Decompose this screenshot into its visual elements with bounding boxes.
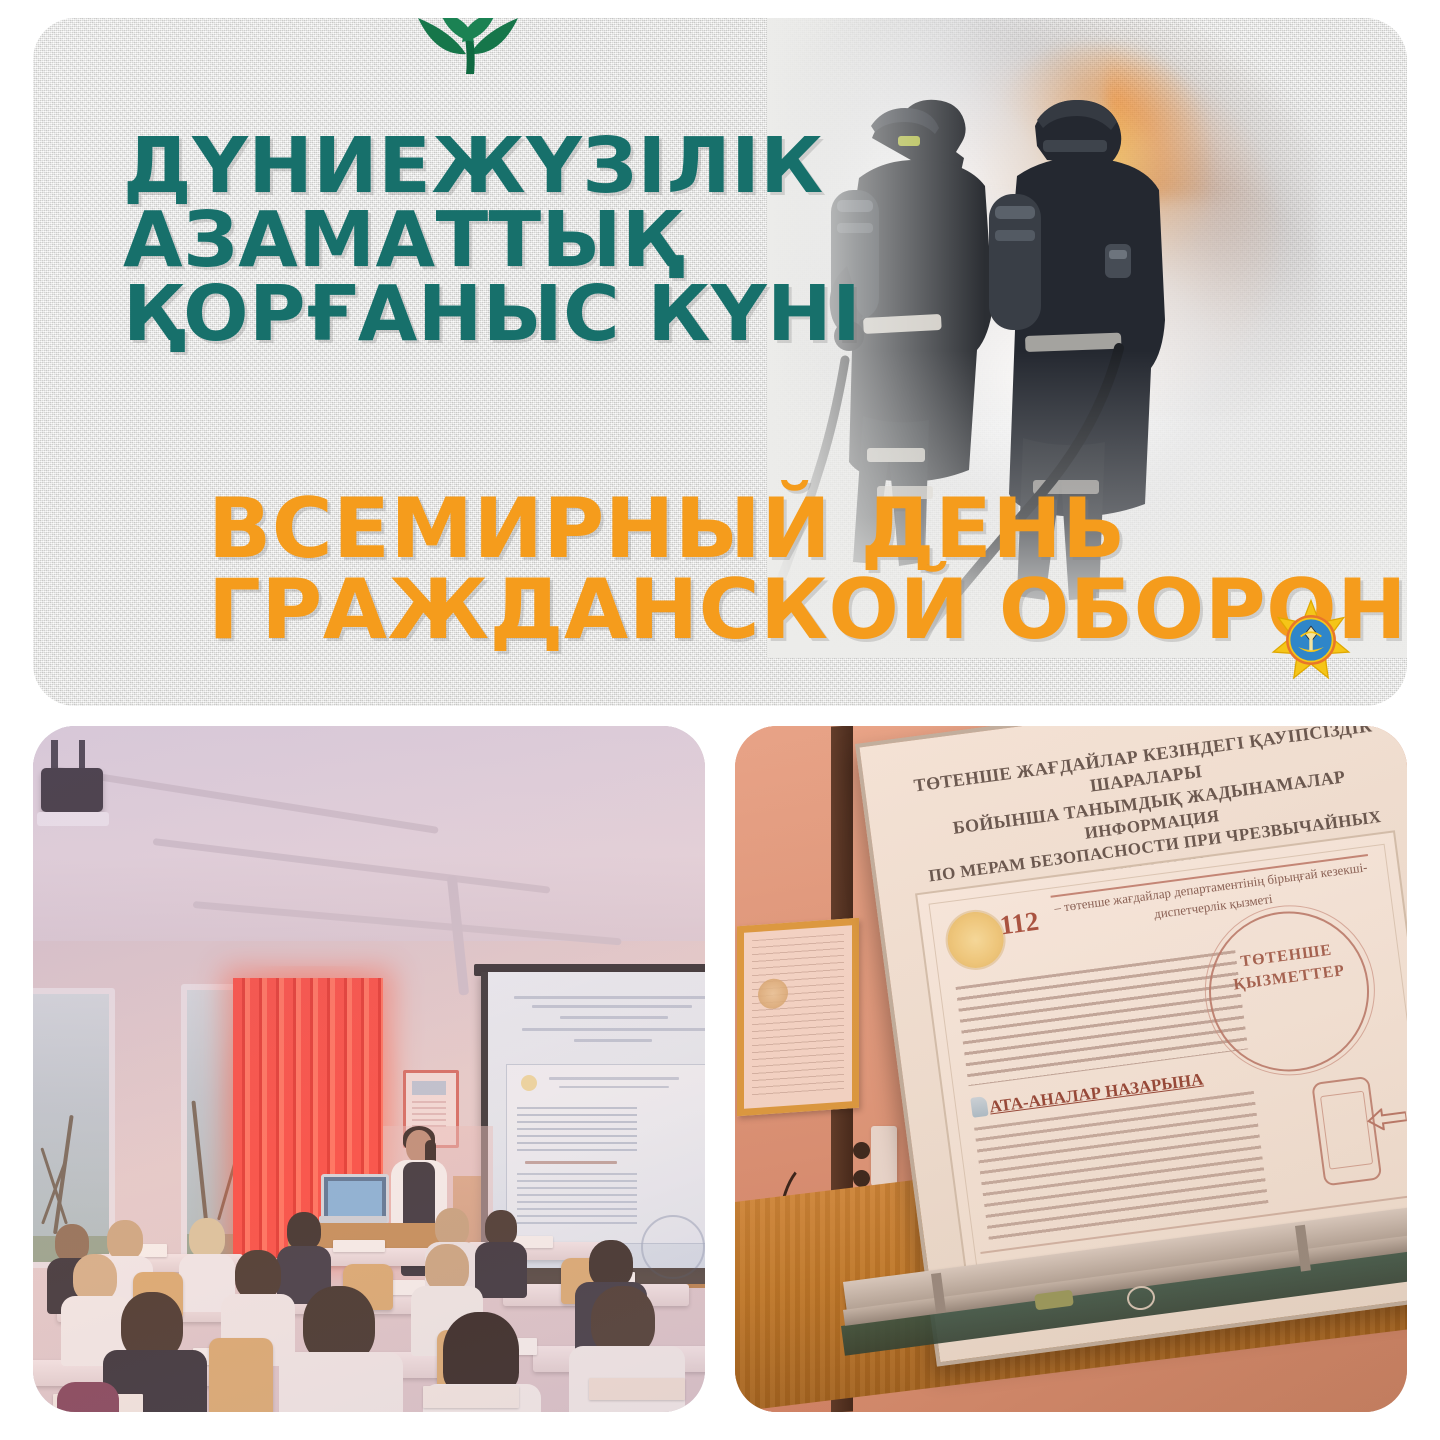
title-kazakh-line-3: ҚОРҒАНЫС КҮНІ — [123, 278, 903, 352]
screen-slide-area — [506, 1064, 705, 1244]
student-head — [107, 1220, 143, 1260]
screen-text-line — [532, 1005, 692, 1008]
seated-students — [33, 1226, 705, 1412]
student-head — [443, 1312, 519, 1394]
title-kazakh: ДҮНИЕЖҮЗІЛІК АЗАМАТТЫҚ ҚОРҒАНЫС КҮНІ — [123, 130, 903, 352]
student-head — [73, 1254, 117, 1302]
power-socket — [871, 1126, 897, 1186]
kazakhstan-emergency-ministry-emblem — [1268, 597, 1354, 683]
screen-slide-paragraph — [517, 1107, 637, 1153]
student-head — [589, 1240, 633, 1288]
slide-emergency-number: 112 — [998, 906, 1041, 942]
open-textbook — [589, 1378, 685, 1400]
framed-wall-certificate — [737, 918, 859, 1117]
student-backpack — [57, 1382, 119, 1412]
screen-slide-seal — [521, 1075, 537, 1091]
header-banner: ДҮНИЕЖҮЗІЛІК АЗАМАТТЫҚ ҚОРҒАНЫС КҮНІ ВСЕ… — [33, 18, 1407, 706]
screen-slide-subheading — [525, 1161, 617, 1164]
classroom-lesson-photo — [33, 726, 705, 1412]
title-russian-line-2: ГРАЖДАНСКОЙ ОБОРОНЫ — [208, 569, 1388, 650]
screen-text-line — [560, 1016, 668, 1019]
screen-slide-line — [549, 1077, 679, 1080]
screen-slide-paragraph — [517, 1173, 637, 1225]
student-chair — [209, 1338, 273, 1412]
student-body — [279, 1352, 403, 1412]
screen-text-line — [522, 1028, 705, 1031]
open-textbook — [423, 1386, 519, 1408]
projection-screen-closeup-photo: ТӨТЕНШЕ ЖАҒДАЙЛАР КЕЗІНДЕГІ ҚАУІПСІЗДІК … — [735, 726, 1407, 1412]
laptop-base — [319, 1216, 387, 1223]
phone-screen — [1320, 1091, 1373, 1170]
collage-canvas: ДҮНИЕЖҮЗІЛІК АЗАМАТТЫҚ ҚОРҒАНЫС КҮНІ ВСЕ… — [0, 0, 1440, 1440]
title-russian: ВСЕМИРНЫЙ ДЕНЬ ГРАЖДАНСКОЙ ОБОРОНЫ — [208, 488, 1388, 651]
title-russian-line-1: ВСЕМИРНЫЙ ДЕНЬ — [208, 488, 1388, 569]
title-kazakh-line-1: ДҮНИЕЖҮЗІЛІК — [123, 130, 903, 204]
projector-mount-base — [37, 812, 109, 826]
student-body — [475, 1242, 527, 1298]
power-plug — [853, 1142, 870, 1159]
ceiling-projector — [41, 768, 103, 812]
screen-text-line — [574, 1039, 652, 1042]
student-head — [287, 1212, 321, 1250]
laptop-screen — [328, 1181, 382, 1217]
wall-poster-image — [412, 1081, 446, 1095]
student-head — [435, 1208, 469, 1246]
tree-branch — [191, 1101, 209, 1231]
screen-text-line — [514, 996, 705, 999]
student-head — [189, 1218, 225, 1258]
student-head — [485, 1210, 517, 1246]
certificate-text-lines — [752, 934, 844, 1100]
screen-slide-line — [559, 1086, 669, 1088]
classroom-ceiling — [33, 726, 705, 941]
student-book — [333, 1240, 385, 1252]
green-wheat-leaf-decoration — [378, 18, 558, 74]
title-kazakh-line-2: АЗАМАТТЫҚ — [123, 204, 903, 278]
student-head — [235, 1250, 281, 1300]
student-head — [425, 1244, 469, 1292]
